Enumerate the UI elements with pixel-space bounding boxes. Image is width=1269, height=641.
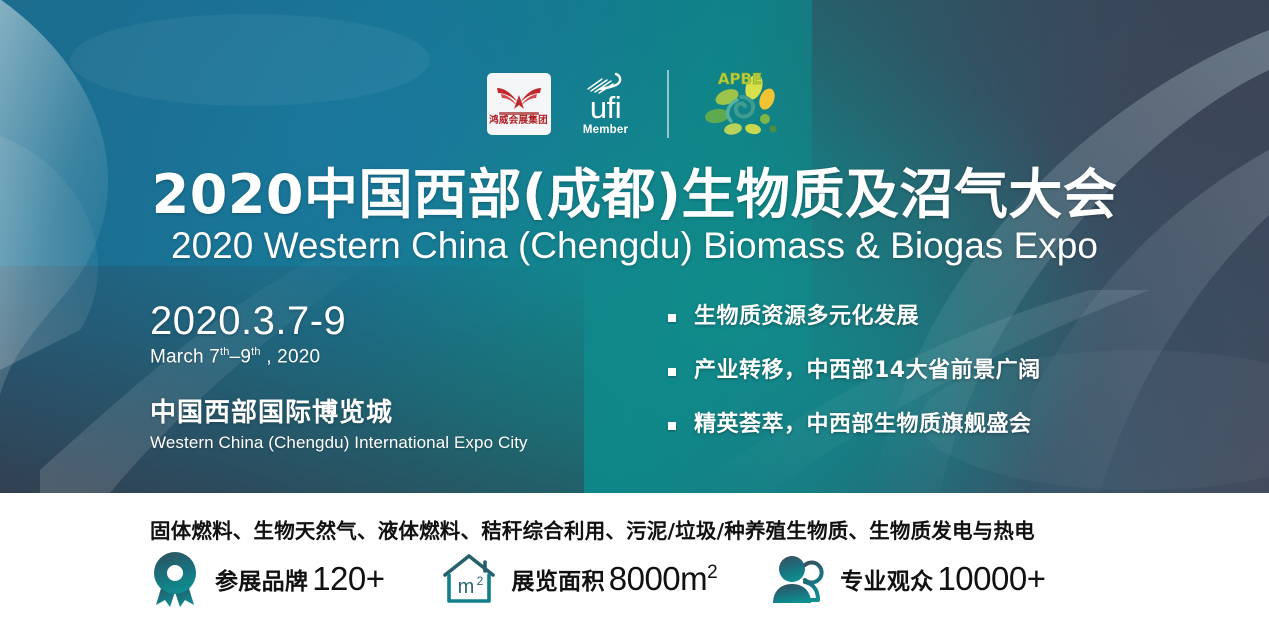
stat-visitors: 专业观众 10000+ (767, 551, 1045, 607)
highlights-list: 生物质资源多元化发展 产业转移，中西部14大省前景广阔 精英荟萃，中西部生物质旗… (668, 305, 1041, 468)
square-bullet-icon (668, 422, 676, 430)
date-en-suffix: , 2020 (261, 346, 321, 367)
people-icon (767, 551, 827, 607)
apbe-logo: APBE (697, 67, 783, 141)
square-bullet-icon (668, 314, 676, 322)
event-poster: 鸿威会展集团 ufi Member (0, 0, 1269, 641)
stat-area: m 2 展览面积 8000m2 (439, 551, 718, 607)
date-en-mid: –9 (230, 346, 252, 367)
stat-value-text: 8000m (609, 560, 707, 597)
stat-label: 专业观众 (840, 562, 933, 596)
hongwei-logo-rule (499, 112, 539, 115)
event-title-cn: 2020中国西部(成都)生物质及沼气大会 (0, 167, 1269, 224)
ufi-wordmark: ufi (590, 93, 621, 122)
event-info-block: 2020.3.7-9 March 7th–9th , 2020 中国西部国际博览… (150, 300, 528, 453)
event-date-numeric: 2020.3.7-9 (150, 300, 528, 342)
hongwei-exhibition-group-logo: 鸿威会展集团 (487, 73, 551, 135)
date-en-sup2: th (251, 346, 261, 358)
stat-value: 120+ (312, 560, 384, 598)
highlight-text: 精英荟萃，中西部生物质旗舰盛会 (694, 413, 1032, 437)
stat-brands: 参展品牌 120+ (148, 551, 385, 607)
w-wing-mark-icon (494, 83, 544, 111)
logo-divider (667, 70, 669, 138)
square-bullet-icon (668, 368, 676, 376)
house-icon-m-label: m (457, 576, 474, 598)
logo-row: 鸿威会展集团 ufi Member (0, 62, 1269, 146)
apbe-leaf-mark-icon: APBE (697, 67, 783, 141)
event-title-en: 2020 Western China (Chengdu) Biomass & B… (0, 226, 1269, 267)
ufi-member-logo: ufi Member (573, 72, 639, 135)
stats-row: 参展品牌 120+ m 2 展览面积 8000m2 (148, 551, 1148, 607)
event-date-english: March 7th–9th , 2020 (150, 346, 528, 368)
stat-label: 参展品牌 (215, 562, 308, 596)
apbe-wordmark: APBE (717, 70, 761, 88)
list-item: 精英荟萃，中西部生物质旗舰盛会 (668, 413, 1041, 437)
exhibit-scope-text: 固体燃料、生物天然气、液体燃料、秸秆综合利用、污泥/垃圾/种养殖生物质、生物质发… (150, 514, 1035, 544)
hongwei-logo-cn-text: 鸿威会展集团 (489, 116, 548, 126)
stat-label: 展览面积 (512, 562, 605, 596)
hero-banner: 鸿威会展集团 ufi Member (0, 0, 1269, 493)
stat-value: 8000m2 (609, 560, 717, 598)
venue-name-cn: 中国西部国际博览城 (150, 392, 528, 429)
venue-name-en: Western China (Chengdu) International Ex… (150, 433, 528, 453)
house-area-icon: m 2 (439, 551, 499, 607)
list-item: 产业转移，中西部14大省前景广阔 (668, 359, 1041, 383)
date-en-sup1: th (220, 346, 230, 358)
date-en-prefix: March 7 (150, 346, 220, 367)
house-icon-sup-label: 2 (476, 574, 483, 588)
highlight-text: 生物质资源多元化发展 (694, 305, 919, 329)
stat-value: 10000+ (937, 560, 1045, 598)
stat-value-sup: 2 (707, 562, 717, 583)
ufi-member-label: Member (583, 124, 628, 136)
medal-ribbon-icon (148, 551, 202, 607)
bottom-info-bar: 固体燃料、生物天然气、液体燃料、秸秆综合利用、污泥/垃圾/种养殖生物质、生物质发… (0, 493, 1269, 641)
list-item: 生物质资源多元化发展 (668, 305, 1041, 329)
highlight-text: 产业转移，中西部14大省前景广阔 (694, 359, 1041, 383)
